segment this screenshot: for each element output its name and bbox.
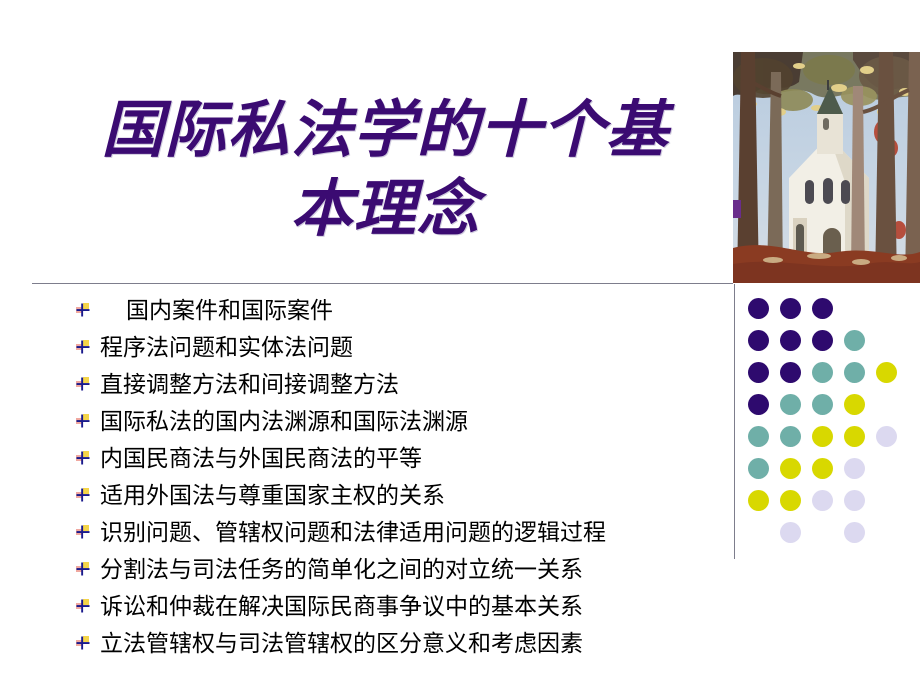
horizontal-divider: [32, 283, 733, 284]
decorative-dot-teal: [844, 362, 865, 383]
chapel-autumn-painting-image: [733, 52, 920, 283]
decorative-dot-grid: [748, 298, 916, 560]
decorative-dot-yellow: [780, 458, 801, 479]
decorative-dot-teal: [780, 426, 801, 447]
decorative-dot-lavender: [844, 458, 865, 479]
four-color-cross-bullet-icon: [76, 525, 90, 539]
four-color-cross-bullet-icon: [76, 562, 90, 576]
decorative-dot-purple: [812, 298, 833, 319]
four-color-cross-bullet-icon: [76, 340, 90, 354]
decorative-dot-yellow: [844, 394, 865, 415]
four-color-cross-bullet-icon: [76, 451, 90, 465]
list-item[interactable]: 适用外国法与尊重国家主权的关系: [76, 477, 716, 514]
decorative-dot-lavender: [844, 490, 865, 511]
list-item-label: 直接调整方法和间接调整方法: [100, 366, 399, 403]
vertical-divider: [734, 284, 735, 559]
four-color-cross-bullet-icon: [76, 636, 90, 650]
decorative-dot-yellow: [748, 490, 769, 511]
decorative-dot-purple: [812, 330, 833, 351]
list-item-label: 分割法与司法任务的简单化之间的对立统一关系: [100, 551, 583, 588]
decorative-dot-teal: [780, 394, 801, 415]
list-item-label: 立法管辖权与司法管辖权的区分意义和考虑因素: [100, 625, 583, 662]
decorative-dot-yellow: [812, 426, 833, 447]
decorative-dot-purple: [748, 330, 769, 351]
four-color-cross-bullet-icon: [76, 599, 90, 613]
decorative-dot-yellow: [812, 458, 833, 479]
decorative-dot-teal: [812, 394, 833, 415]
list-item[interactable]: 立法管辖权与司法管辖权的区分意义和考虑因素: [76, 625, 716, 662]
list-item[interactable]: 直接调整方法和间接调整方法: [76, 366, 716, 403]
decorative-dot-purple: [780, 362, 801, 383]
list-item[interactable]: 程序法问题和实体法问题: [76, 329, 716, 366]
list-item-label: 程序法问题和实体法问题: [100, 329, 353, 366]
decorative-dot-yellow: [780, 490, 801, 511]
decorative-dot-lavender: [844, 522, 865, 543]
decorative-dot-purple: [748, 362, 769, 383]
four-color-cross-bullet-icon: [76, 414, 90, 428]
list-item[interactable]: 国内案件和国际案件: [76, 292, 716, 329]
four-color-cross-bullet-icon: [76, 303, 90, 317]
list-item[interactable]: 国际私法的国内法渊源和国际法渊源: [76, 403, 716, 440]
list-item[interactable]: 分割法与司法任务的简单化之间的对立统一关系: [76, 551, 716, 588]
decorative-dot-teal: [748, 458, 769, 479]
decorative-dot-teal: [748, 426, 769, 447]
list-item-label: 适用外国法与尊重国家主权的关系: [100, 477, 445, 514]
slide-title: 国际私法学的十个基 本理念: [60, 92, 710, 251]
decorative-dot-lavender: [780, 522, 801, 543]
decorative-dot-purple: [748, 298, 769, 319]
list-item[interactable]: 诉讼和仲裁在解决国际民商事争议中的基本关系: [76, 588, 716, 625]
decorative-dot-yellow: [844, 426, 865, 447]
list-item-label: 诉讼和仲裁在解决国际民商事争议中的基本关系: [100, 588, 583, 625]
decorative-dot-lavender: [876, 426, 897, 447]
four-color-cross-bullet-icon: [76, 488, 90, 502]
list-item[interactable]: 识别问题、管辖权问题和法律适用问题的逻辑过程: [76, 514, 716, 551]
decorative-dot-purple: [780, 298, 801, 319]
decorative-dot-yellow: [876, 362, 897, 383]
decorative-dot-purple: [748, 394, 769, 415]
decorative-dot-purple: [780, 330, 801, 351]
decorative-dot-teal: [812, 362, 833, 383]
list-item-label: 国内案件和国际案件: [100, 292, 333, 329]
list-item-label: 识别问题、管辖权问题和法律适用问题的逻辑过程: [100, 514, 606, 551]
bullet-list: 国内案件和国际案件程序法问题和实体法问题直接调整方法和间接调整方法国际私法的国内…: [76, 292, 716, 662]
four-color-cross-bullet-icon: [76, 377, 90, 391]
list-item[interactable]: 内国民商法与外国民商法的平等: [76, 440, 716, 477]
list-item-label: 国际私法的国内法渊源和国际法渊源: [100, 403, 468, 440]
decorative-dot-teal: [844, 330, 865, 351]
decorative-dot-lavender: [812, 490, 833, 511]
list-item-label: 内国民商法与外国民商法的平等: [100, 440, 422, 477]
slide-canvas: 国际私法学的十个基 本理念: [0, 0, 920, 690]
